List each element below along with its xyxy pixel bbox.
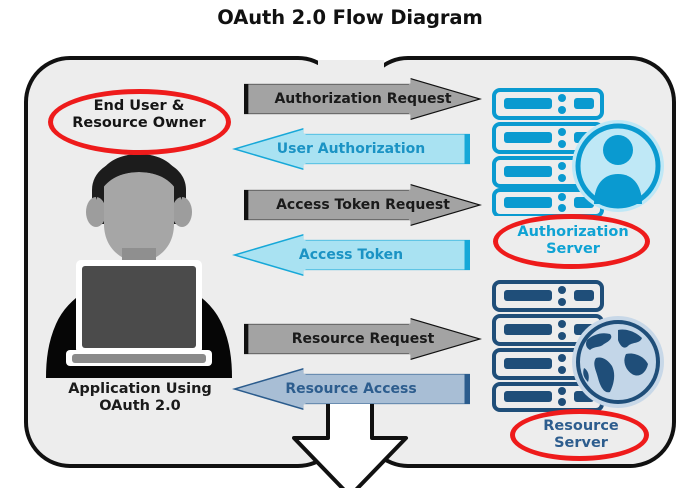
authorization-server-caption: Authorization Server xyxy=(505,224,641,258)
application-caption: Application Using OAuth 2.0 xyxy=(44,381,236,415)
resource-server-caption-line2: Server xyxy=(522,435,640,452)
authorization-server-caption-line2: Server xyxy=(505,241,641,258)
oauth-flow-diagram: OAuth 2.0 Flow Diagram xyxy=(0,0,700,488)
server-rack-with-globe-badge-icon xyxy=(490,276,670,412)
application-caption-line2: OAuth 2.0 xyxy=(44,398,236,415)
end-user-caption-line2: Resource Owner xyxy=(44,115,234,132)
user-with-laptop-icon xyxy=(34,128,244,378)
application-caption-line1: Application Using xyxy=(44,381,236,398)
end-user-caption-line1: End User & xyxy=(44,98,234,115)
page-title: OAuth 2.0 Flow Diagram xyxy=(0,6,700,29)
resource-server-caption: Resource Server xyxy=(522,418,640,452)
end-user-caption: End User & Resource Owner xyxy=(44,98,234,132)
down-arrow-icon xyxy=(288,404,412,488)
resource-server-caption-line1: Resource xyxy=(522,418,640,435)
authorization-server-caption-line1: Authorization xyxy=(505,224,641,241)
server-rack-with-user-badge-icon xyxy=(490,84,670,216)
